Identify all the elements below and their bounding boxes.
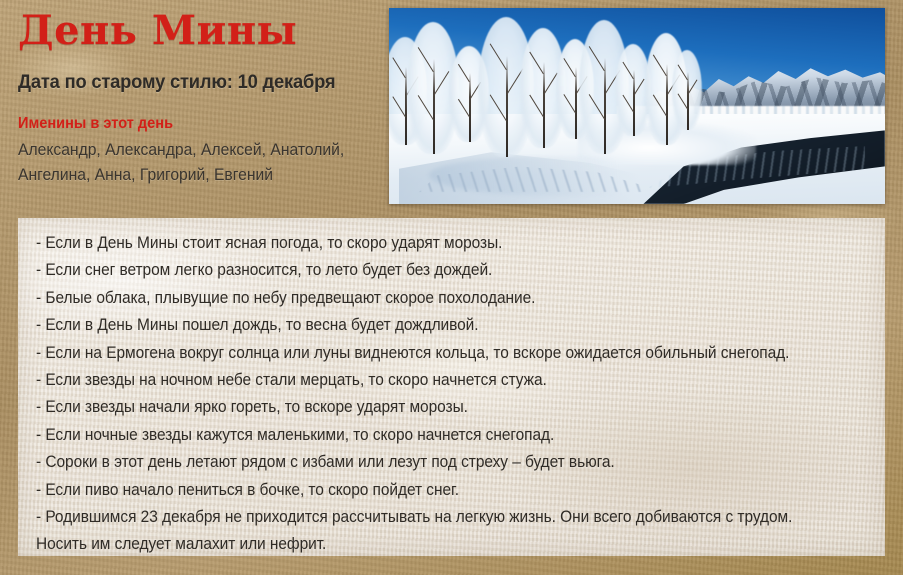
omen-line: - Если в День Мины стоит ясная погода, т… [36, 230, 832, 257]
tree-trunk [666, 64, 668, 145]
omen-line: - Если на Ермогена вокруг солнца или лун… [36, 340, 832, 367]
omen-line: - Если звезды начали ярко гореть, то вск… [36, 394, 832, 421]
omen-line: - Белые облака, плывущие по небу предвещ… [36, 285, 832, 312]
header-left-column: День Мины Дата по старому стилю: 10 дека… [18, 4, 378, 188]
tree-trunk [633, 70, 635, 136]
frosted-trees-group [389, 8, 687, 157]
tree-trunk [604, 58, 606, 154]
omen-line: - Если снег ветром легко разносится, то … [36, 257, 832, 284]
tree-trunk [543, 62, 545, 148]
omen-line: - Если ночные звезды кажутся маленькими,… [36, 422, 832, 449]
omens-list: - Если в День Мины стоит ясная погода, т… [18, 218, 885, 559]
tree-trunk [506, 56, 508, 157]
tree-trunk [433, 59, 435, 154]
winter-landscape-photo [389, 8, 885, 204]
tree-trunk [575, 67, 577, 139]
old-style-date: Дата по старому стилю: 10 декабря [18, 71, 356, 94]
omens-panel: - Если в День Мины стоит ясная погода, т… [18, 218, 885, 556]
omen-line: - Сороки в этот день летают рядом с изба… [36, 449, 832, 476]
namedays-heading: Именины в этот день [18, 115, 356, 133]
omen-line: - Если звезды на ночном небе стали мерца… [36, 367, 832, 394]
omen-line: Носить им следует малахит или нефрит. [36, 531, 832, 558]
folk-calendar-card: День Мины Дата по старому стилю: 10 дека… [0, 0, 903, 575]
tree-trunk [469, 73, 471, 142]
omen-line: - Родившимся 23 декабря не приходится ра… [36, 504, 832, 531]
page-title: День Мины [18, 10, 378, 52]
omen-line: - Если пиво начало пениться в бочке, то … [36, 477, 832, 504]
namedays-list: Александр, Александра, Алексей, Анатолий… [18, 138, 360, 188]
omen-line: - Если в День Мины пошел дождь, то весна… [36, 312, 832, 339]
tree-trunk [687, 72, 689, 130]
